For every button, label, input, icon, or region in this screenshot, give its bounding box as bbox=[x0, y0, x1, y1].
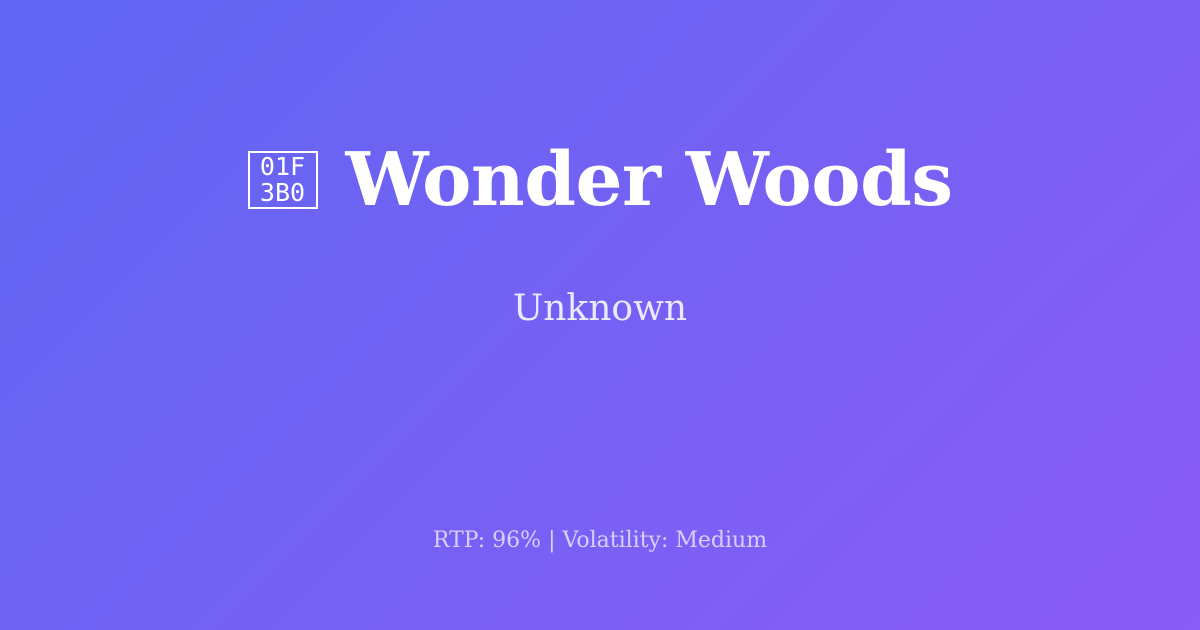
tofu-codepoint-high: 01F bbox=[260, 154, 305, 180]
game-preview-card: 01F 3B0 Wonder Woods Unknown RTP: 96% | … bbox=[0, 0, 1200, 630]
slot-machine-icon: 01F 3B0 bbox=[248, 151, 318, 209]
headline: 01F 3B0 Wonder Woods bbox=[248, 143, 953, 217]
title-block: 01F 3B0 Wonder Woods Unknown bbox=[0, 0, 1200, 470]
game-stats: RTP: 96% | Volatility: Medium bbox=[0, 530, 1200, 552]
provider-name: Unknown bbox=[513, 291, 687, 327]
page-title: Wonder Woods bbox=[346, 143, 953, 217]
tofu-codepoint-low: 3B0 bbox=[260, 180, 305, 206]
